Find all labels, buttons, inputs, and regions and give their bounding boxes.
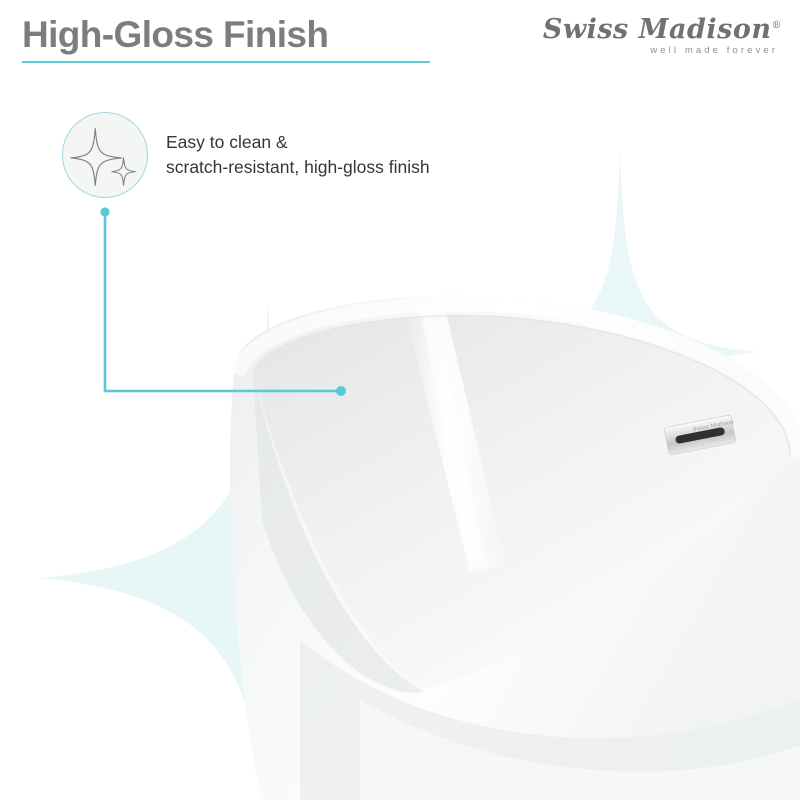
tub-body bbox=[230, 296, 800, 800]
brand-name: Swiss Madison® bbox=[542, 16, 782, 43]
tub-interior bbox=[253, 316, 790, 690]
feature-description: Easy to clean & scratch-resistant, high-… bbox=[166, 130, 430, 180]
tub-base-shading bbox=[300, 640, 800, 800]
brand-name-text: Swiss Madison bbox=[543, 14, 772, 45]
brand-tagline: well made forever bbox=[542, 45, 778, 56]
product-feature-image: Swiss Madison High-Gloss Finish Swiss Ma… bbox=[0, 0, 800, 800]
connector-end-dot bbox=[336, 386, 346, 396]
feature-badge bbox=[62, 112, 148, 198]
overflow-slot bbox=[675, 427, 726, 444]
brand-logo: Swiss Madison® well made forever bbox=[542, 16, 782, 68]
chrome-overflow-plate: Swiss Madison bbox=[664, 414, 738, 455]
connector-path bbox=[105, 212, 341, 391]
tub-rim-inner-edge bbox=[253, 316, 790, 456]
connector-start-dot bbox=[100, 207, 109, 216]
tub-inner-shadow bbox=[253, 372, 424, 693]
title-underline bbox=[22, 61, 430, 63]
registered-mark-icon: ® bbox=[772, 20, 783, 31]
page-title: High-Gloss Finish bbox=[22, 14, 328, 56]
tub-rim bbox=[240, 304, 798, 450]
sparkle-icon bbox=[63, 113, 147, 197]
header: High-Gloss Finish Swiss Madison® well ma… bbox=[0, 0, 800, 80]
sparkle-watermark-bottom-left bbox=[40, 300, 470, 800]
sparkle-watermark-top-right bbox=[486, 150, 760, 560]
tub-gloss-highlight bbox=[404, 308, 506, 572]
svg-text:Swiss Madison: Swiss Madison bbox=[692, 419, 734, 433]
